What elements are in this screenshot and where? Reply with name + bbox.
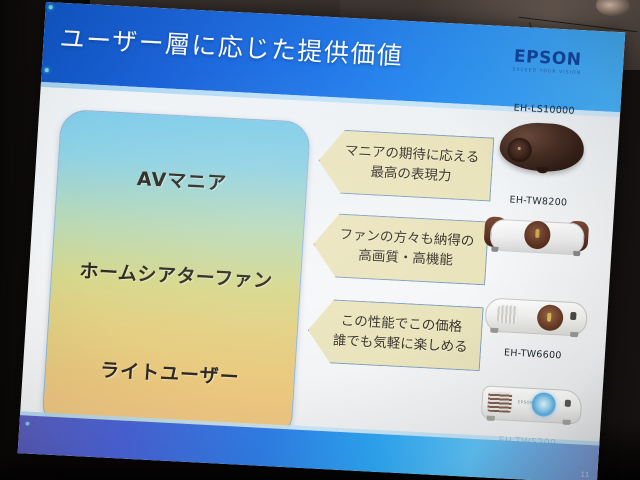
callout-line-2: 高画質・高機能 [346, 246, 454, 271]
projector-dark-pebble-icon [480, 112, 604, 180]
title-accent-dot-icon [49, 5, 53, 9]
callout-line-2: 最高の表現力 [358, 163, 452, 187]
footer-accent-dot-icon [25, 421, 29, 425]
product-eh-ls10000: EH-LS10000 [480, 101, 604, 180]
epson-wordmark: EPSON [513, 49, 582, 70]
title-accent-dot-icon [45, 68, 49, 72]
segment-label-home-theater-fan: ホームシアターファン [51, 255, 300, 295]
presentation-slide: ユーザー層に応じた提供価値 EPSON EXCEED YOUR VISION A… [18, 2, 626, 480]
projector-white-brown-lens-icon [473, 283, 597, 351]
segment-label-light-user: ライトユーザー [45, 353, 294, 393]
slide-title: ユーザー層に応じた提供価値 [59, 19, 405, 73]
epson-logo: EPSON EXCEED YOUR VISION [512, 49, 582, 77]
callout-home-theater-fan: ファンの方々も納得の 高画質・高機能 [311, 212, 489, 285]
projector-white-brown-wings-icon [474, 204, 598, 272]
slide-page-number: 11 [580, 471, 589, 479]
product-eh-tw8200: EH-TW8200 [474, 193, 598, 272]
projector-white-blue-lens-icon: EPSON [468, 371, 592, 439]
segment-label-av-mania: AVマニア [57, 160, 306, 200]
projection-screen-wrapper: ユーザー層に応じた提供価値 EPSON EXCEED YOUR VISION A… [16, 2, 640, 480]
callout-light-user: この性能でこの価格 誰でも気軽に楽しめる [306, 298, 484, 371]
user-segment-panel: AVマニア ホームシアターファン ライトユーザー [41, 109, 311, 441]
conference-room-photo: ユーザー層に応じた提供価値 EPSON EXCEED YOUR VISION A… [0, 0, 640, 480]
product-eh-tw6600: EH-TW6600 [473, 283, 597, 363]
callout-av-mania: マニアの期待に応える 最高の表現力 [317, 129, 495, 202]
